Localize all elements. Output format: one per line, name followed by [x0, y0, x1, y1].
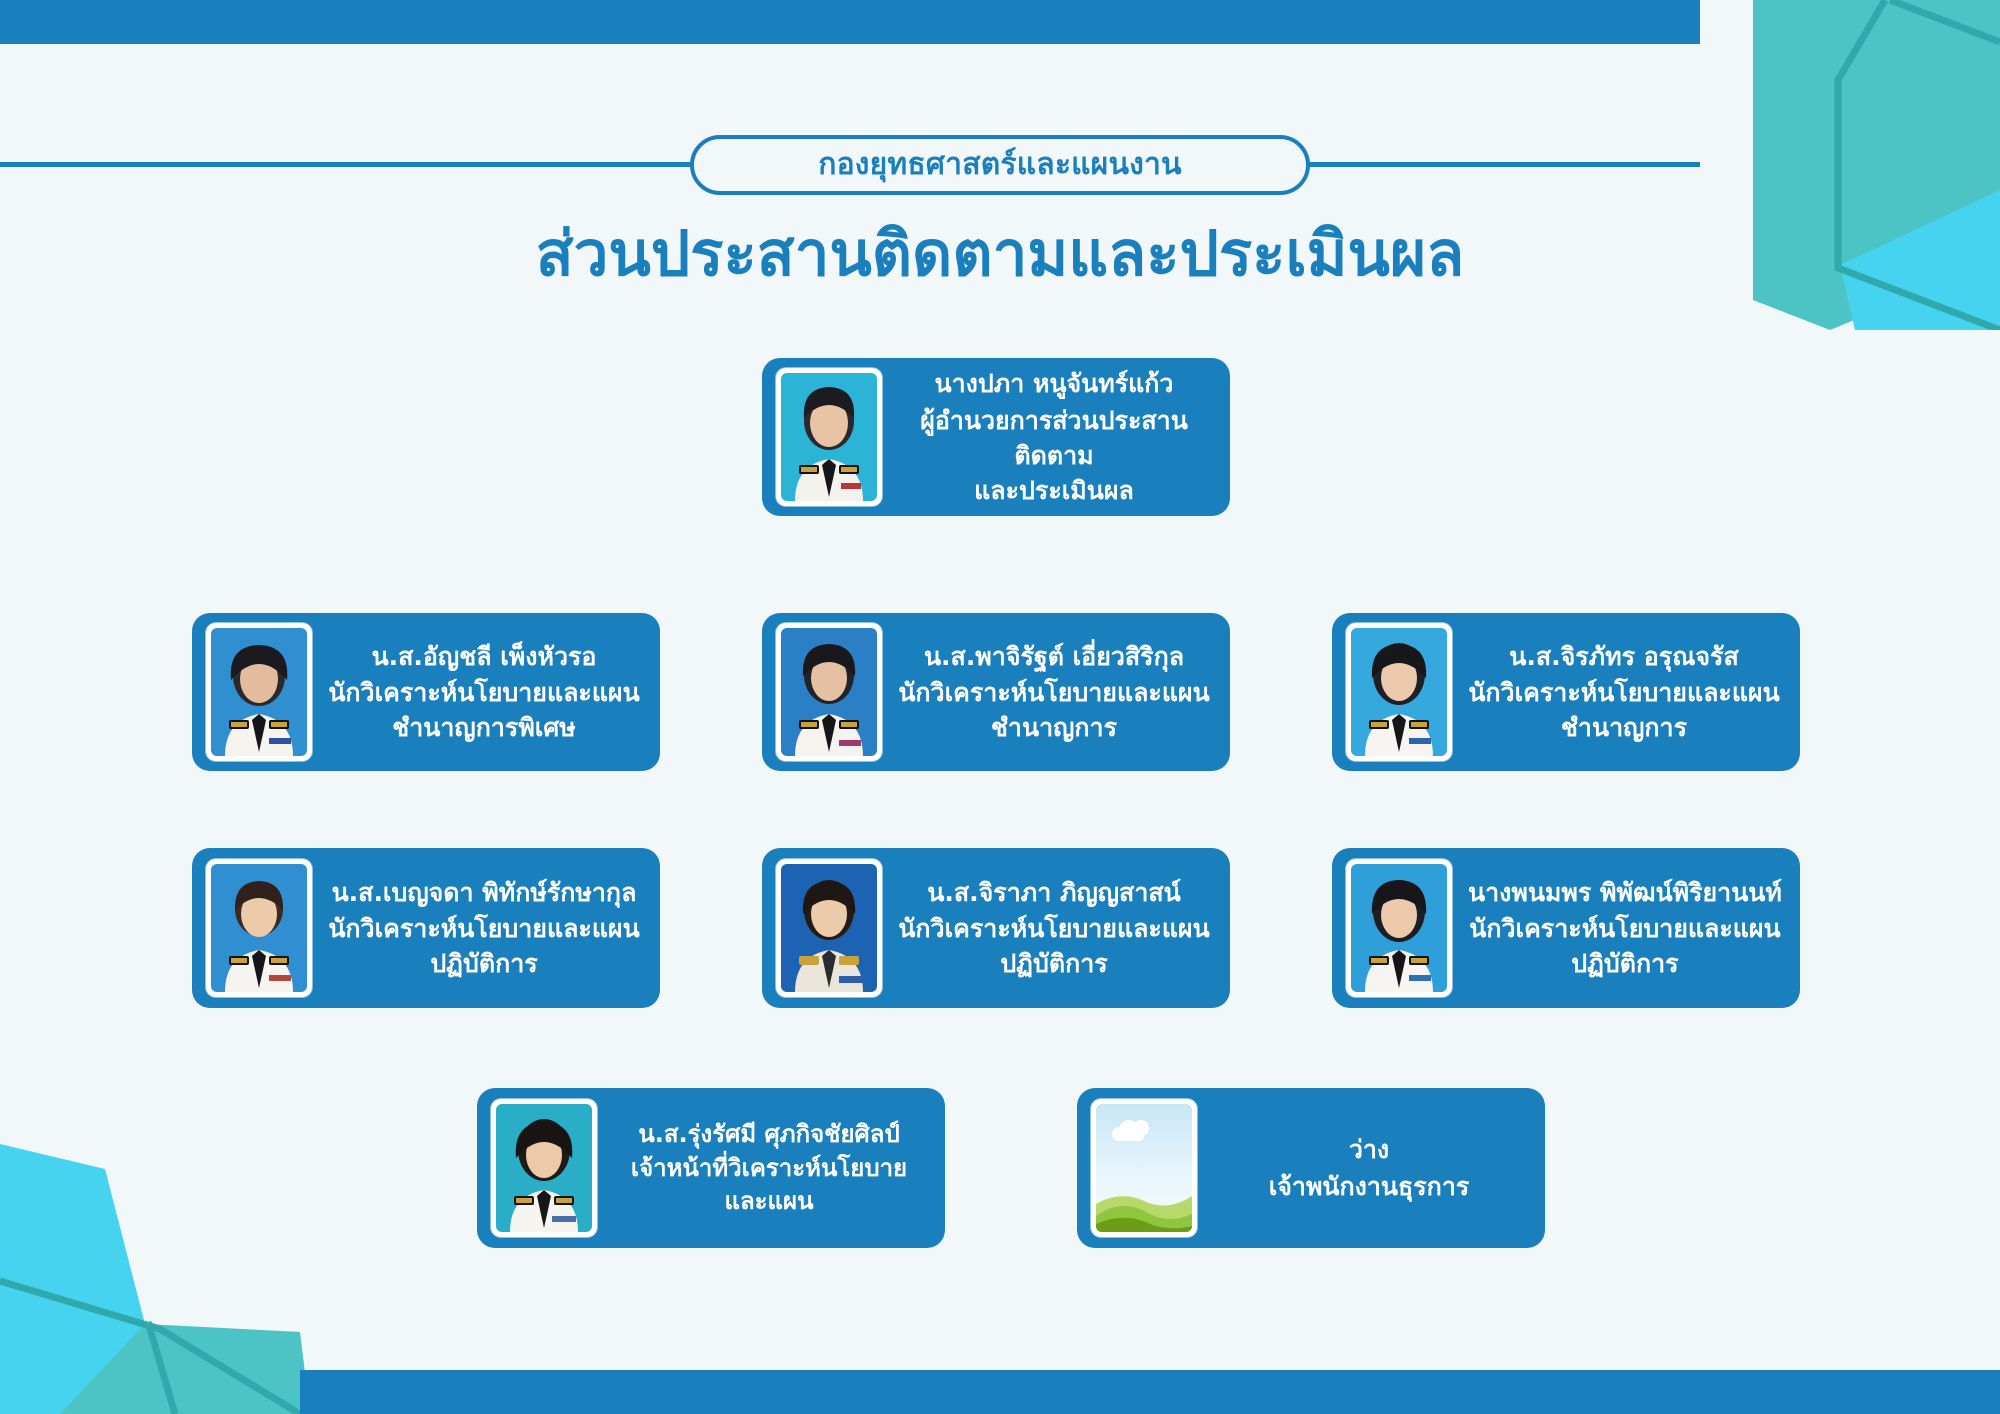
person-role-line-1: นักวิเคราะห์นโยบายและแผน [898, 675, 1210, 710]
portrait-photo-icon [781, 864, 877, 992]
org-card-text: น.ส.อัญชลี เพ็งหัวรอ นักวิเคราะห์นโยบายแ… [322, 639, 646, 745]
portrait-photo-frame [1346, 859, 1452, 997]
person-role-line-1: นักวิเคราะห์นโยบายและแผน [328, 675, 640, 710]
portrait-photo-icon [211, 864, 307, 992]
person-role-line-1: เจ้าหน้าที่วิเคราะห์นโยบายและแผน [613, 1152, 925, 1219]
portrait-photo-icon [1351, 628, 1447, 756]
person-role-line-1: นักวิเคราะห์นโยบายและแผน [328, 911, 640, 946]
org-card-text: ว่าง เจ้าพนักงานธุรการ [1207, 1132, 1531, 1203]
person-name: น.ส.จิราภา ภิญญสาสน์ [898, 875, 1210, 911]
person-role-line-2: ชำนาญการพิเศษ [328, 710, 640, 745]
person-name: น.ส.จิรภัทร อรุณจรัส [1468, 639, 1780, 675]
portrait-photo-icon [781, 373, 877, 501]
portrait-photo-icon [211, 628, 307, 756]
person-name: น.ส.เบญจดา พิทักษ์รักษากุล [328, 875, 640, 911]
org-card-row4-2-vacant[interactable]: ว่าง เจ้าพนักงานธุรการ [1077, 1088, 1545, 1248]
org-chart-poster: กองยุทธศาสตร์และแผนงาน ส่วนประสานติดตามแ… [0, 0, 2000, 1414]
bottom-brand-bar [300, 1370, 2000, 1414]
person-role-line-2: และประเมินผล [898, 473, 1210, 508]
person-role-line-2: ปฏิบัติการ [898, 946, 1210, 981]
person-name: น.ส.พาจิรัฐต์ เอี่ยวสิริกุล [898, 639, 1210, 675]
person-role-line-1: นักวิเคราะห์นโยบายและแผน [898, 911, 1210, 946]
person-role-line-2: ปฏิบัติการ [328, 946, 640, 981]
org-card-text: นางพนมพร พิพัฒน์พิริยานนท์ นักวิเคราะห์น… [1462, 875, 1788, 981]
person-role-line-1: ผู้อำนวยการส่วนประสานติดตาม [898, 403, 1210, 473]
portrait-photo-frame [776, 859, 882, 997]
placeholder-photo-frame [1091, 1099, 1197, 1237]
person-role-line-2: ปฏิบัติการ [1468, 946, 1782, 981]
org-card-row4-1[interactable]: น.ส.รุ่งรัศมี ศุภกิจชัยศิลป์ เจ้าหน้าที่… [477, 1088, 945, 1248]
org-card-text: น.ส.จิรภัทร อรุณจรัส นักวิเคราะห์นโยบายแ… [1462, 639, 1786, 745]
org-card-text: น.ส.เบญจดา พิทักษ์รักษากุล นักวิเคราะห์น… [322, 875, 646, 981]
org-card-text: น.ส.รุ่งรัศมี ศุภกิจชัยศิลป์ เจ้าหน้าที่… [607, 1117, 931, 1219]
person-name: นางพนมพร พิพัฒน์พิริยานนท์ [1468, 875, 1782, 911]
person-role-line-1: เจ้าพนักงานธุรการ [1213, 1169, 1525, 1204]
portrait-photo-frame [776, 623, 882, 761]
person-role-line-1: นักวิเคราะห์นโยบายและแผน [1468, 675, 1780, 710]
org-card-row2-1[interactable]: น.ส.อัญชลี เพ็งหัวรอ นักวิเคราะห์นโยบายแ… [192, 613, 660, 771]
portrait-photo-frame [491, 1099, 597, 1237]
org-card-text: นางปภา หนูจันทร์แก้ว ผู้อำนวยการส่วนประส… [892, 366, 1216, 507]
person-name: น.ส.อัญชลี เพ็งหัวรอ [328, 639, 640, 675]
person-role-line-2: ชำนาญการ [1468, 710, 1780, 745]
org-card-text: น.ส.พาจิรัฐต์ เอี่ยวสิริกุล นักวิเคราะห์… [892, 639, 1216, 745]
portrait-photo-icon [781, 628, 877, 756]
org-card-text: น.ส.จิราภา ภิญญสาสน์ นักวิเคราะห์นโยบายแ… [892, 875, 1216, 981]
landscape-placeholder-icon [1096, 1104, 1192, 1232]
person-name: น.ส.รุ่งรัศมี ศุภกิจชัยศิลป์ [613, 1117, 925, 1152]
org-card-row2-2[interactable]: น.ส.พาจิรัฐต์ เอี่ยวสิริกุล นักวิเคราะห์… [762, 613, 1230, 771]
portrait-photo-icon [496, 1104, 592, 1232]
portrait-photo-frame [206, 623, 312, 761]
portrait-photo-frame [776, 368, 882, 506]
portrait-photo-frame [206, 859, 312, 997]
org-card-director[interactable]: นางปภา หนูจันทร์แก้ว ผู้อำนวยการส่วนประส… [762, 358, 1230, 516]
person-name: ว่าง [1213, 1132, 1525, 1168]
org-chart: นางปภา หนูจันทร์แก้ว ผู้อำนวยการส่วนประส… [0, 0, 2000, 1414]
org-card-row3-1[interactable]: น.ส.เบญจดา พิทักษ์รักษากุล นักวิเคราะห์น… [192, 848, 660, 1008]
portrait-photo-icon [1351, 864, 1447, 992]
person-name: นางปภา หนูจันทร์แก้ว [898, 366, 1210, 402]
org-card-row2-3[interactable]: น.ส.จิรภัทร อรุณจรัส นักวิเคราะห์นโยบายแ… [1332, 613, 1800, 771]
person-role-line-1: นักวิเคราะห์นโยบายและแผน [1468, 911, 1782, 946]
portrait-photo-frame [1346, 623, 1452, 761]
top-brand-bar [0, 0, 1700, 44]
org-card-row3-3[interactable]: นางพนมพร พิพัฒน์พิริยานนท์ นักวิเคราะห์น… [1332, 848, 1800, 1008]
org-card-row3-2[interactable]: น.ส.จิราภา ภิญญสาสน์ นักวิเคราะห์นโยบายแ… [762, 848, 1230, 1008]
person-role-line-2: ชำนาญการ [898, 710, 1210, 745]
